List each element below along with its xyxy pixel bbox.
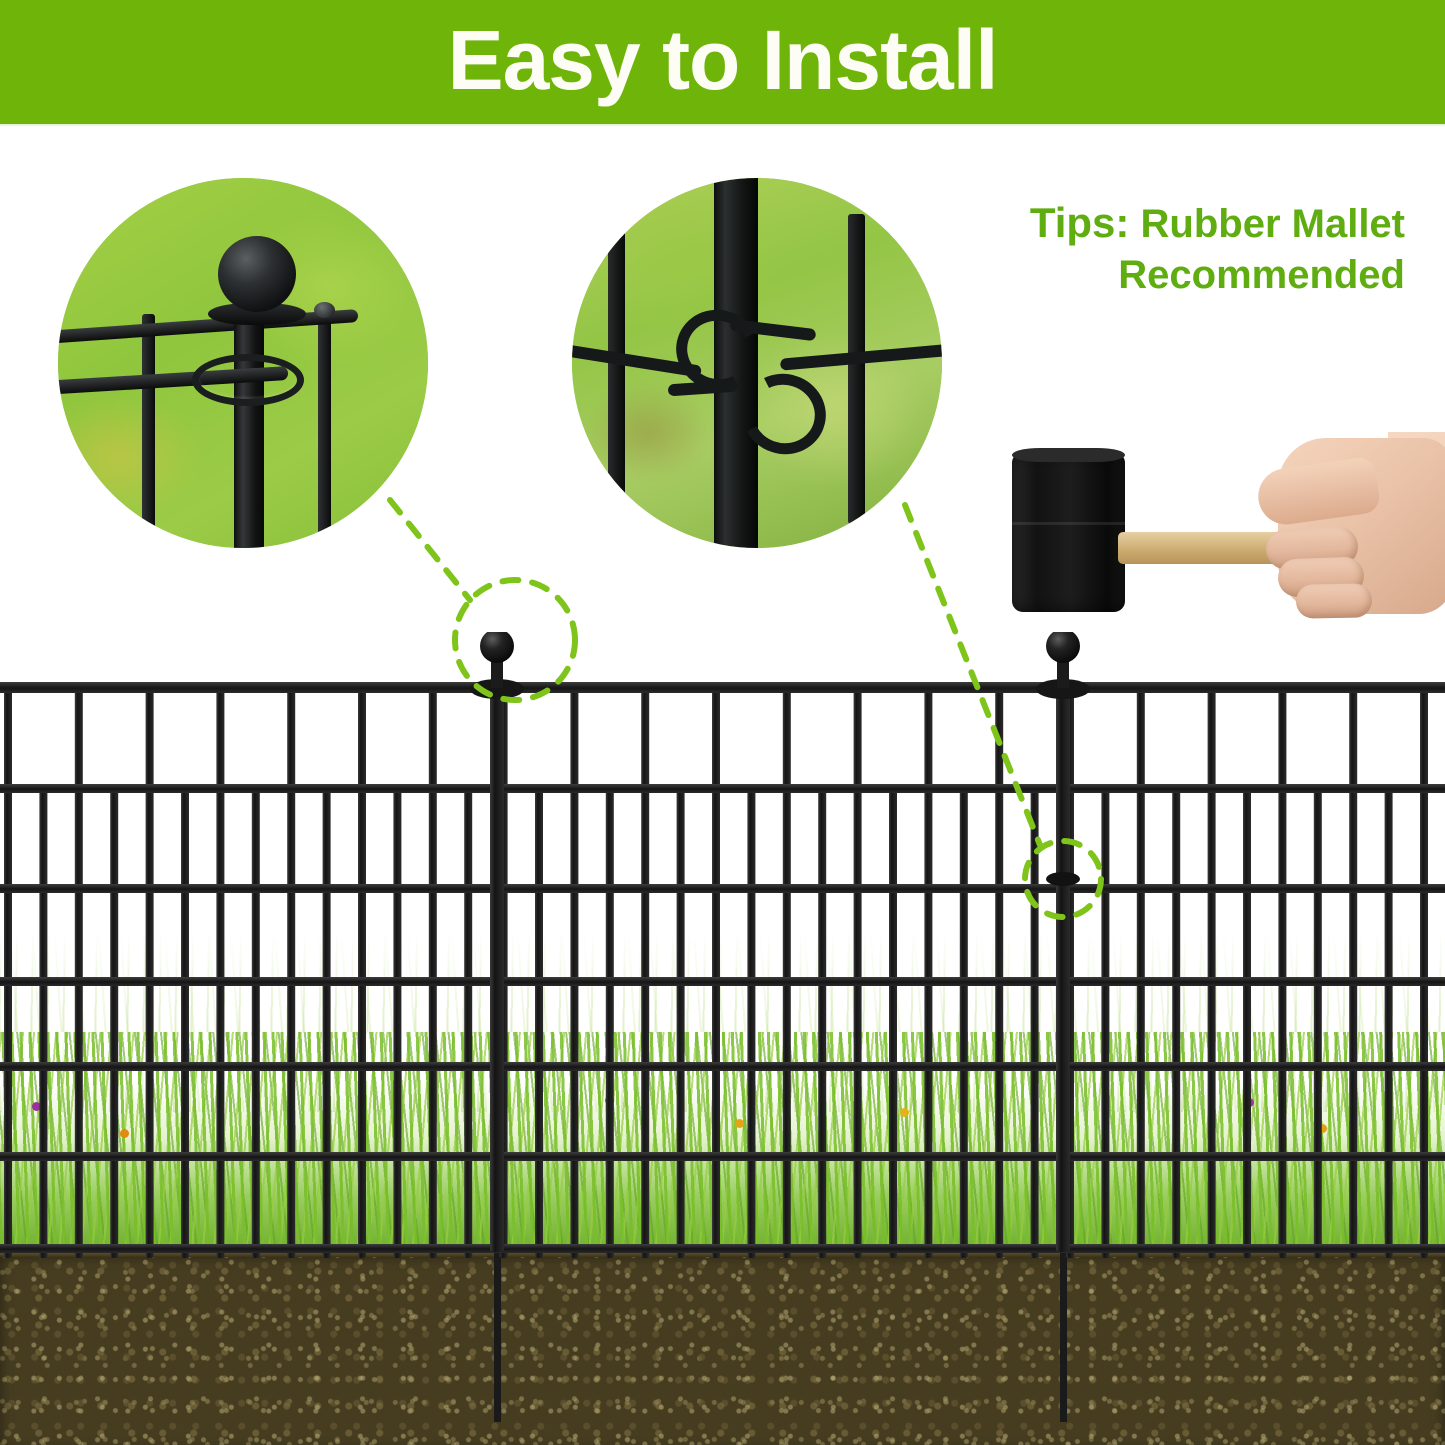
fence-wire	[783, 682, 791, 1258]
fence-wire	[924, 682, 932, 1258]
tips-line-1-rest: Rubber Mallet	[1129, 202, 1405, 246]
fence-wire	[75, 682, 83, 1258]
fence-wire	[641, 682, 649, 1258]
detail-vertical-wire-left	[142, 314, 155, 548]
fence-wire	[747, 784, 755, 1258]
fence-rail	[0, 1062, 1445, 1071]
fence-wire	[889, 784, 897, 1258]
fence-wire	[1137, 682, 1145, 1258]
detail-vertical-wire-left	[608, 226, 625, 526]
ground-stakes	[492, 1238, 1069, 1422]
finger-ring	[1296, 583, 1373, 618]
mallet-head-seam	[1012, 522, 1125, 525]
rubber-mallet-illustration	[1000, 440, 1445, 660]
mallet-head-top-edge	[1012, 448, 1125, 462]
fence-wire	[464, 784, 472, 1258]
mallet-head	[1012, 452, 1125, 612]
fence-wire	[1208, 682, 1216, 1258]
fence-wire	[216, 682, 224, 1258]
header-divider	[0, 124, 1445, 127]
fence-wire	[712, 682, 720, 1258]
fence-wire	[677, 784, 685, 1258]
fence-wire	[181, 784, 189, 1258]
detail-vertical-wire-right	[848, 214, 865, 524]
fence-wire	[1243, 784, 1251, 1258]
tips-callout: Tips: Rubber Mallet Recommended	[935, 196, 1405, 301]
detail-wire-loop	[192, 354, 304, 406]
ball-finial-icon	[218, 236, 296, 312]
fence-wire	[4, 682, 12, 1258]
fence-wire	[1278, 682, 1286, 1258]
fence-wire	[1101, 784, 1109, 1258]
fence-rail	[0, 977, 1445, 986]
fence-wire	[818, 784, 826, 1258]
product-feature-image: Easy to Install Tips: Rubber Mallet Reco…	[0, 0, 1445, 1445]
fence-wire	[429, 682, 437, 1258]
fence-wire	[960, 784, 968, 1258]
hand-gripping-mallet	[1238, 432, 1445, 632]
detail-fence-post	[234, 306, 264, 548]
tips-line-2: Recommended	[935, 250, 1405, 301]
fence-wire	[1420, 682, 1428, 1258]
fence-mesh	[0, 632, 1445, 1445]
header-banner: Easy to Install	[0, 0, 1445, 124]
fence-wire	[1314, 784, 1322, 1258]
fence-rail	[0, 682, 1445, 693]
fence-vertical-bars	[4, 682, 1428, 1258]
detail-vertical-wire-right	[318, 306, 331, 548]
fence-wire	[854, 682, 862, 1258]
fence-installation-scene	[0, 632, 1445, 1445]
fence-wire	[358, 682, 366, 1258]
fence-wire	[606, 784, 614, 1258]
fence-wire	[323, 784, 331, 1258]
tips-lead-label: Tips:	[1030, 199, 1130, 246]
fence-rail	[0, 884, 1445, 893]
fence-wire	[1172, 784, 1180, 1258]
fence-wire	[287, 682, 295, 1258]
fence-rail	[0, 784, 1445, 793]
fence-wire	[110, 784, 118, 1258]
fence-rail	[0, 1244, 1445, 1253]
fence-wire	[39, 784, 47, 1258]
fence-wire	[1385, 784, 1393, 1258]
fence-wire	[535, 784, 543, 1258]
fence-wire	[1031, 784, 1039, 1258]
fence-wire	[146, 682, 154, 1258]
fence-wire	[570, 682, 578, 1258]
s-hook-detail-circle	[572, 178, 942, 548]
fence-rail	[0, 1152, 1445, 1161]
fence-wire	[252, 784, 260, 1258]
detail-wire-knob	[314, 302, 335, 318]
fence-wire	[393, 784, 401, 1258]
fence-wire	[1349, 682, 1357, 1258]
fence-wire	[995, 682, 1003, 1258]
tips-line-1: Tips: Rubber Mallet	[935, 196, 1405, 250]
page-title: Easy to Install	[448, 18, 998, 102]
ball-finial-detail-circle	[58, 178, 428, 548]
